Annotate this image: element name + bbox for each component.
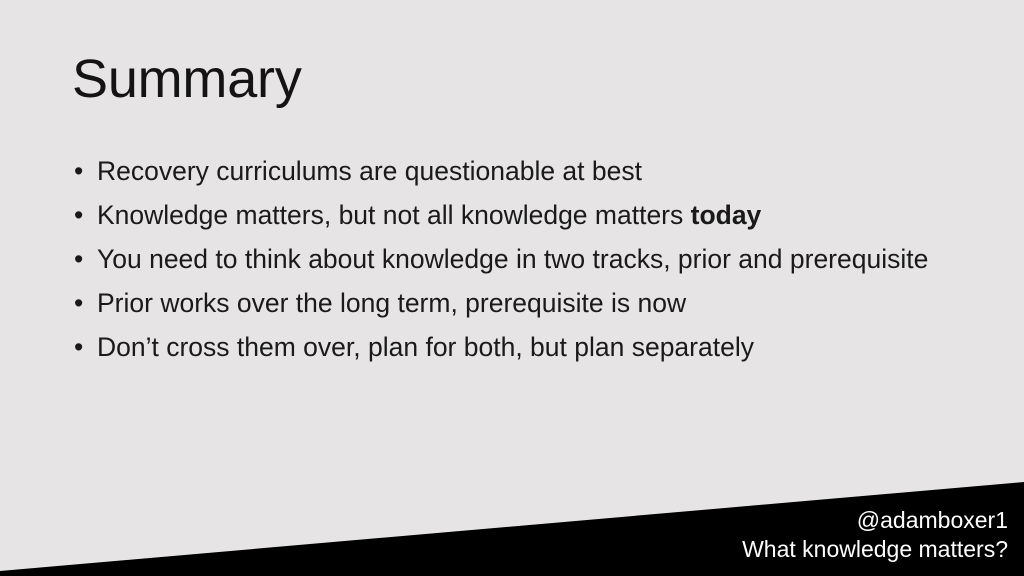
list-item: • Prior works over the long term, prereq…: [74, 286, 954, 321]
list-item-text: You need to think about knowledge in two…: [97, 242, 954, 277]
list-item-text: Prior works over the long term, prerequi…: [97, 286, 954, 321]
list-item: • Knowledge matters, but not all knowled…: [74, 198, 954, 233]
list-item: • You need to think about knowledge in t…: [74, 242, 954, 277]
bullet-list: • Recovery curriculums are questionable …: [74, 154, 954, 374]
bullet-point-icon: •: [74, 198, 97, 233]
list-item-text-segment: Knowledge matters, but not all knowledge…: [97, 200, 691, 230]
list-item-text-emphasis: today: [691, 200, 762, 230]
slide-title: Summary: [72, 50, 302, 108]
list-item-text-segment: Prior works over the long term, prerequi…: [97, 288, 686, 318]
list-item-text: Don’t cross them over, plan for both, bu…: [97, 330, 954, 365]
list-item-text-segment: Recovery curriculums are questionable at…: [97, 156, 642, 186]
bullet-point-icon: •: [74, 242, 97, 277]
presentation-slide: Summary • Recovery curriculums are quest…: [0, 0, 1024, 576]
bullet-point-icon: •: [74, 154, 97, 189]
footer-text-block: @adamboxer1 What knowledge matters?: [742, 506, 1008, 564]
list-item-text: Knowledge matters, but not all knowledge…: [97, 198, 954, 233]
footer-handle: @adamboxer1: [742, 506, 1008, 535]
list-item-text-segment: You need to think about knowledge in two…: [97, 244, 928, 274]
list-item-text-segment: Don’t cross them over, plan for both, bu…: [97, 332, 754, 362]
list-item: • Recovery curriculums are questionable …: [74, 154, 954, 189]
bullet-point-icon: •: [74, 330, 97, 365]
bullet-point-icon: •: [74, 286, 97, 321]
footer-talk-title: What knowledge matters?: [742, 535, 1008, 564]
list-item: • Don’t cross them over, plan for both, …: [74, 330, 954, 365]
list-item-text: Recovery curriculums are questionable at…: [97, 154, 954, 189]
